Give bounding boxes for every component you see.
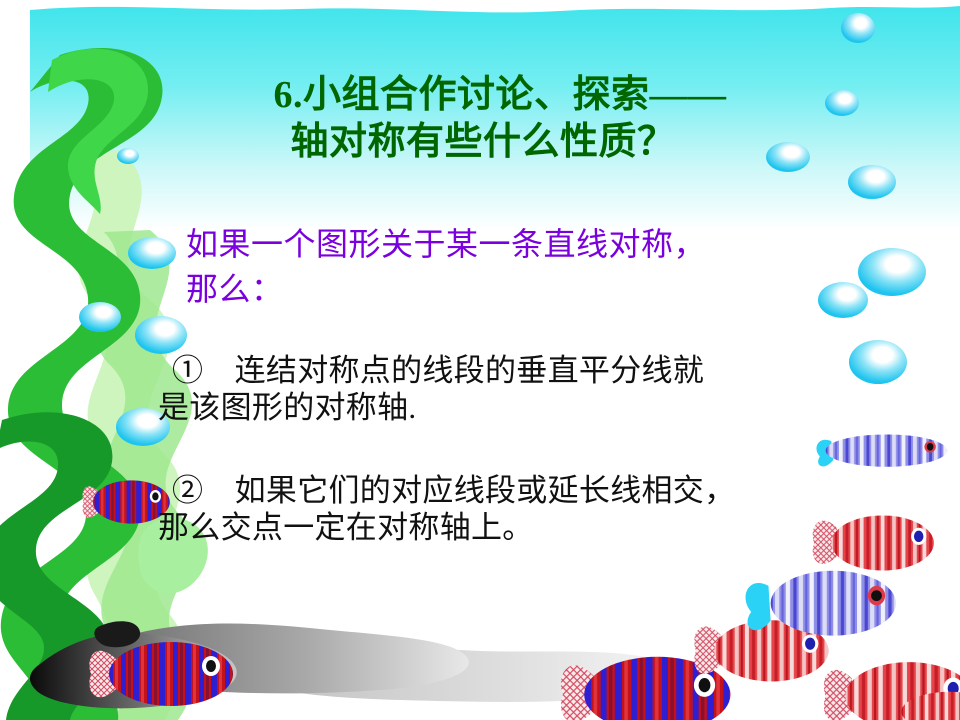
rock-light-far — [233, 642, 685, 702]
fish-tail — [83, 486, 100, 517]
property-item-1-line-1: ① 连结对称点的线段的垂直平分线就 — [172, 352, 872, 389]
fish-eye-white — [868, 586, 885, 605]
fish-eye-pupil — [152, 492, 158, 500]
fish — [561, 657, 730, 720]
seaweed-ribbon-dark — [0, 412, 112, 720]
rock-dark — [30, 632, 237, 708]
lead-line-2: 那么： — [186, 267, 876, 312]
fish-eye-white — [150, 490, 161, 503]
fish-body — [826, 434, 948, 466]
fish — [901, 692, 960, 720]
fish-eye-white — [202, 656, 220, 676]
rock-shadow-chip — [94, 621, 140, 647]
lead-statement: 如果一个图形关于某一条直线对称， 那么： — [186, 222, 876, 313]
fish-eye-pupil — [871, 590, 882, 601]
bubble — [117, 148, 139, 164]
fish-tail — [824, 670, 852, 720]
fish-eye-white — [802, 635, 818, 653]
fish-eye-pupil — [699, 678, 711, 692]
lead-line-1: 如果一个图形关于某一条直线对称， — [186, 222, 876, 267]
slide-title: 6.小组合作讨论、探索—— 轴对称有些什么性质？ — [150, 72, 850, 166]
fish-eye-pupil — [805, 638, 815, 650]
slide-canvas: 6.小组合作讨论、探索—— 轴对称有些什么性质？ 如果一个图形关于某一条直线对称… — [0, 0, 960, 720]
title-line-1: 6.小组合作讨论、探索—— — [150, 72, 850, 119]
property-item-2: ② 如果它们的对应线段或延长线相交， 那么交点一定在对称轴上。 — [172, 472, 872, 546]
fish-fin-cyan — [746, 583, 771, 630]
fish-eye-white — [943, 678, 960, 700]
fish-tail — [561, 665, 594, 720]
bubble — [79, 302, 121, 332]
fish — [694, 620, 828, 681]
seaweed-ribbon-bright — [1, 48, 163, 720]
fish-eye-pupil — [948, 682, 959, 695]
seaweed-ribbon-pale-back — [78, 150, 185, 720]
fish-fin-cyan — [816, 440, 833, 467]
fish-eye-white — [911, 528, 926, 545]
fish — [746, 571, 896, 636]
property-item-1-line-2: 是该图形的对称轴. — [158, 389, 872, 426]
seaweed-top-lobe — [48, 49, 148, 214]
bubble — [135, 316, 187, 354]
property-item-1: ① 连结对称点的线段的垂直平分线就 是该图形的对称轴. — [172, 352, 872, 426]
fish-tail — [694, 626, 720, 673]
sea-rocks — [30, 621, 685, 708]
fish — [83, 480, 170, 523]
fish-body — [845, 662, 960, 720]
fish-eye-pupil — [206, 660, 216, 672]
property-item-2-line-1: ② 如果它们的对应线段或延长线相交， — [172, 472, 872, 509]
bubble — [848, 165, 896, 199]
fish-body — [901, 692, 960, 720]
fish-eye-white — [924, 441, 935, 452]
fish-body — [714, 620, 828, 681]
fish-eye-pupil — [927, 443, 934, 451]
rock-mid — [103, 624, 468, 694]
fish — [816, 434, 947, 466]
fish-eye-pupil — [914, 531, 924, 542]
fish — [824, 662, 960, 720]
fish-body — [584, 657, 730, 720]
fish-body — [771, 571, 896, 636]
fish — [89, 642, 233, 706]
property-item-2-line-2: 那么交点一定在对称轴上。 — [158, 509, 872, 546]
fish-eye-white — [694, 673, 715, 697]
bubble — [128, 237, 176, 269]
title-line-2: 轴对称有些什么性质？ — [150, 119, 850, 166]
fish-body — [109, 642, 233, 706]
bubble — [841, 13, 875, 43]
fish-tail — [89, 651, 117, 698]
